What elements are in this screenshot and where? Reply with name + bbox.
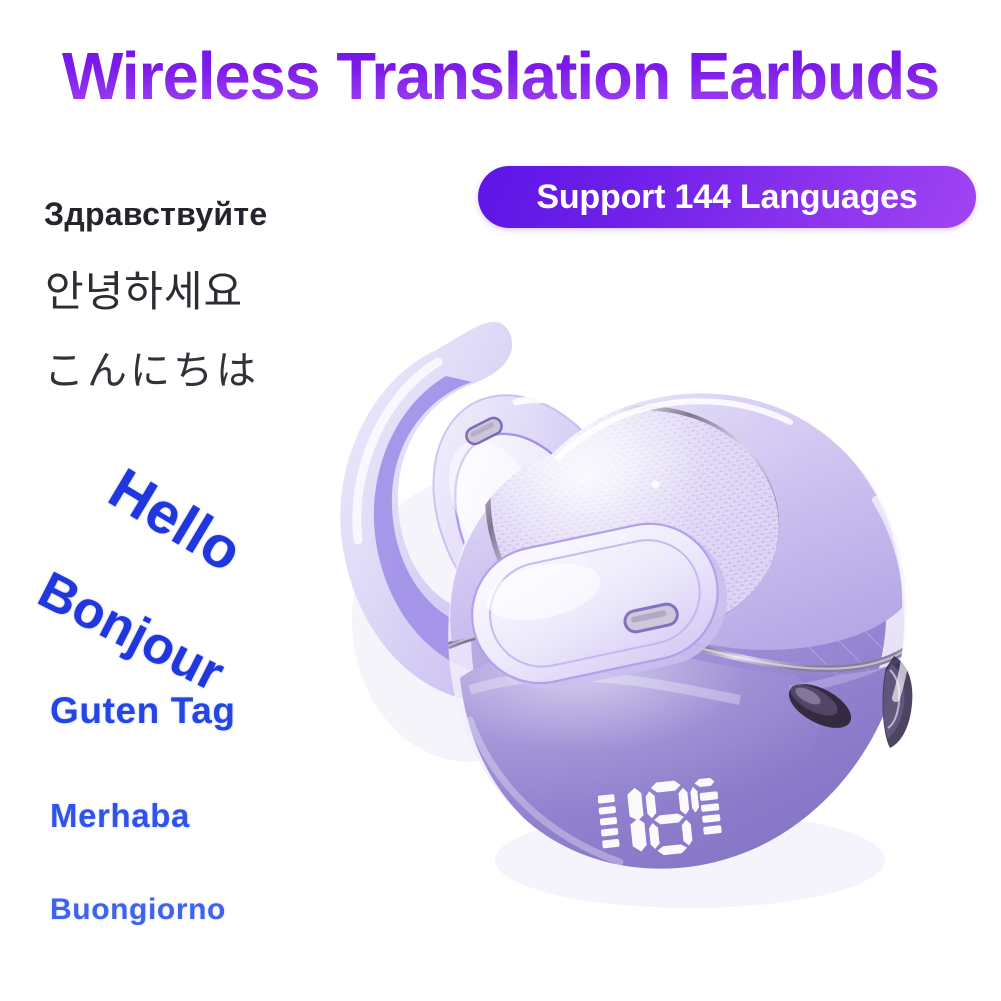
- greeting-turkish: Merhaba: [50, 797, 190, 835]
- greeting-german: Guten Tag: [50, 690, 236, 732]
- greeting-english: Hello: [97, 455, 253, 585]
- greeting-korean: 안녕하세요: [45, 258, 243, 319]
- page-title: Wireless Translation Earbuds: [15, 38, 986, 116]
- greeting-japanese: こんにちは: [44, 338, 259, 396]
- usb-c-port: [883, 656, 913, 748]
- status-badge-label: Support 144 Languages: [536, 178, 917, 217]
- greeting-french: Bonjour: [29, 560, 234, 704]
- product-marketing-image: Wireless Translation Earbuds Support 144…: [0, 0, 1001, 1001]
- product-image: [320, 290, 1000, 950]
- greeting-italian: Buongiorno: [50, 893, 226, 927]
- status-badge: Support 144 Languages: [478, 166, 976, 228]
- greeting-russian: Здравствуйте: [44, 196, 267, 233]
